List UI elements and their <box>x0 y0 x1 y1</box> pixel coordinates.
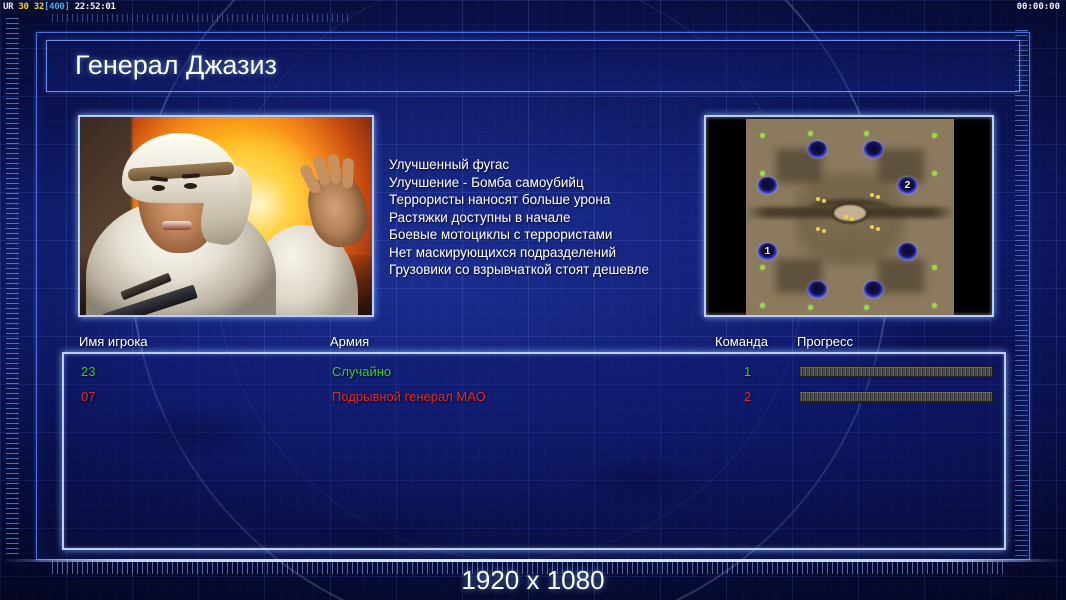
map-start-position-7 <box>808 281 827 298</box>
general-description: Улучшенный фугас Улучшение - Бомба самоу… <box>389 156 719 279</box>
player-list-panel: 23Случайно107Подрывной генерал МАО2 <box>62 352 1006 550</box>
table-row[interactable]: 23Случайно1 <box>64 364 1008 388</box>
cell-player-name: 07 <box>81 389 95 404</box>
description-line-7: Грузовики со взрывчаткой стоят дешевле <box>389 261 719 279</box>
column-header-army: Армия <box>330 334 369 349</box>
progress-bar <box>799 366 993 378</box>
footer-divider <box>0 559 1066 562</box>
map-start-position-1: 1 <box>758 243 777 260</box>
cell-team: 2 <box>744 389 751 404</box>
map-start-position-8 <box>864 281 883 298</box>
ruler-top <box>52 14 352 22</box>
column-header-team: Команда <box>715 334 768 349</box>
debug-label: UR <box>3 2 13 12</box>
description-line-2: Улучшение - Бомба самоубийц <box>389 174 719 192</box>
game-timer: 00:00:00 <box>1017 2 1060 12</box>
cell-player-name: 23 <box>81 364 95 379</box>
description-line-5: Боевые мотоциклы с террористами <box>389 226 719 244</box>
debug-overlay-left: UR 30 32[400] 22:52:01 <box>1 1 118 13</box>
table-row[interactable]: 07Подрывной генерал МАО2 <box>64 389 1008 413</box>
title-bar: Генерал Джазиз <box>46 40 1020 92</box>
page-title: Генерал Джазиз <box>75 50 277 81</box>
portrait-eye-left <box>152 185 165 191</box>
debug-fps: 30 32 <box>18 2 44 12</box>
general-info-panel: Улучшенный фугас Улучшение - Бомба самоу… <box>62 108 1006 326</box>
map-start-position-6 <box>898 243 917 260</box>
ruler-left <box>6 18 19 558</box>
portrait-mouth <box>162 221 192 230</box>
map-start-position-2 <box>864 141 883 158</box>
map-start-position-2: 2 <box>898 177 917 194</box>
resolution-label: 1920 x 1080 <box>0 565 1066 596</box>
resolution-footer: 1920 x 1080 <box>0 550 1066 590</box>
description-line-3: Террористы наносят больше урона <box>389 191 719 209</box>
map-start-label: 2 <box>898 177 917 194</box>
debug-frame: [400] <box>44 2 70 12</box>
portrait-artwork <box>80 117 372 315</box>
description-line-4: Растяжки доступны в начале <box>389 209 719 227</box>
map-start-position-1 <box>808 141 827 158</box>
description-line-6: Нет маскирующихся подразделений <box>389 244 719 262</box>
portrait-eye-right <box>184 183 197 189</box>
map-image: 21 <box>746 119 954 317</box>
column-header-progress: Прогресс <box>797 334 853 349</box>
general-portrait <box>78 115 374 317</box>
map-preview[interactable]: 21 <box>704 115 994 317</box>
column-header-name: Имя игрока <box>79 334 148 349</box>
debug-clock: 22:52:01 <box>75 2 116 12</box>
map-start-position-3 <box>758 177 777 194</box>
map-start-label: 1 <box>758 243 777 260</box>
cell-army: Подрывной генерал МАО <box>332 389 486 404</box>
description-line-1: Улучшенный фугас <box>389 156 719 174</box>
player-list-headers: Имя игрока Армия Команда Прогресс <box>62 334 1006 354</box>
progress-bar <box>799 391 993 403</box>
cell-team: 1 <box>744 364 751 379</box>
cell-army: Случайно <box>332 364 391 379</box>
